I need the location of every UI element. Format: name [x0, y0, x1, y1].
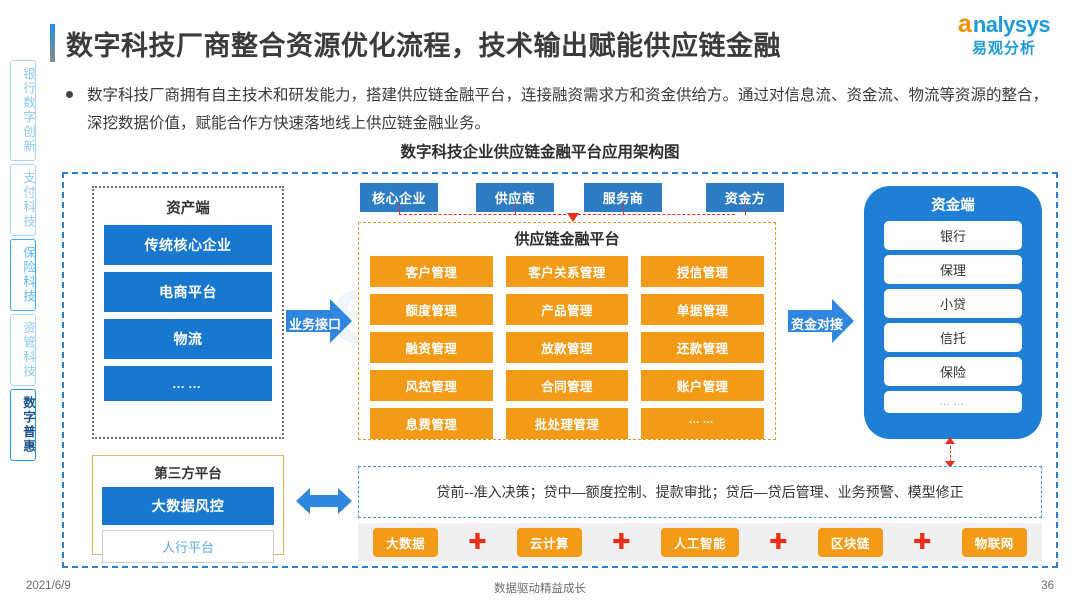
- platform-box: 供应链金融平台 客户管理 客户关系管理 授信管理 额度管理 产品管理 单据管理 …: [358, 222, 776, 440]
- module-risk-control-mgmt[interactable]: 风控管理: [370, 370, 493, 401]
- sidebar-item-inclusive-finance[interactable]: 数字普惠: [10, 389, 36, 461]
- connector-line-supplier: [515, 203, 516, 215]
- slide-root: 数字科技厂商整合资源优化流程，技术输出赋能供应链金融 a nalysys 易观分…: [0, 0, 1080, 608]
- sidebar-rail: 银行数字创新 支付科技 保险科技 资管科技 数字普惠: [6, 60, 40, 461]
- title-accent-bar: [50, 24, 55, 62]
- module-more[interactable]: ……: [641, 408, 764, 439]
- platform-module-grid: 客户管理 客户关系管理 授信管理 额度管理 产品管理 单据管理 融资管理 放款管…: [359, 249, 775, 439]
- module-crm[interactable]: 客户关系管理: [506, 256, 629, 287]
- business-interface-label: 业务接口: [289, 314, 341, 333]
- logo-mark-icon: a: [958, 12, 972, 37]
- third-party-heading: 第三方平台: [102, 462, 274, 482]
- funding-item-trust[interactable]: 信托: [884, 323, 1022, 352]
- footer-tagline: 数据驱动精益成长: [0, 580, 1080, 596]
- third-party-box: 第三方平台 大数据风控 人行平台: [92, 455, 284, 555]
- module-credit-mgmt[interactable]: 授信管理: [641, 256, 764, 287]
- module-customer-mgmt[interactable]: 客户管理: [370, 256, 493, 287]
- module-quota-mgmt[interactable]: 额度管理: [370, 294, 493, 325]
- third-party-pboc-platform[interactable]: 人行平台: [102, 530, 274, 563]
- asset-item-ecommerce[interactable]: 电商平台: [104, 272, 272, 312]
- funding-item-bank[interactable]: 银行: [884, 221, 1022, 250]
- module-loan-disbursement-mgmt[interactable]: 放款管理: [506, 332, 629, 363]
- platform-heading: 供应链金融平台: [359, 228, 775, 249]
- bullet-dot-icon: [66, 91, 73, 98]
- footer-page-number: 36: [1041, 580, 1054, 592]
- connector-line-core: [399, 203, 400, 215]
- connector-arrowhead-icon: [567, 213, 579, 222]
- funding-item-microloan[interactable]: 小贷: [884, 289, 1022, 318]
- module-product-mgmt[interactable]: 产品管理: [506, 294, 629, 325]
- page-title: 数字科技厂商整合资源优化流程，技术输出赋能供应链金融: [50, 20, 910, 66]
- logo-wordmark: a nalysys: [944, 12, 1064, 37]
- summary-text: 数字科技厂商拥有自主技术和研发能力，搭建供应链金融平台，连接融资需求方和资金供给…: [87, 82, 1056, 138]
- module-contract-mgmt[interactable]: 合同管理: [506, 370, 629, 401]
- bidirectional-arrow-icon: [296, 484, 352, 518]
- connector-line-funder: [745, 203, 746, 215]
- logo-chinese-text: 易观分析: [944, 41, 1064, 56]
- tech-chip-iot[interactable]: 物联网: [962, 528, 1027, 557]
- sidebar-item-asset-mgmt[interactable]: 资管科技: [10, 314, 36, 386]
- module-financing-mgmt[interactable]: 融资管理: [370, 332, 493, 363]
- logo-word-text: nalysys: [973, 14, 1050, 36]
- asset-side-heading: 资产端: [104, 197, 272, 218]
- sidebar-item-insurance[interactable]: 保险科技: [10, 239, 36, 311]
- tech-chip-ai[interactable]: 人工智能: [661, 528, 739, 557]
- funding-link-up-arrow-icon: [945, 437, 955, 444]
- tech-stack-strip: 大数据 ✚ 云计算 ✚ 人工智能 ✚ 区块链 ✚ 物联网: [358, 523, 1042, 561]
- asset-item-core-enterprise[interactable]: 传统核心企业: [104, 225, 272, 265]
- analysys-logo: a nalysys 易观分析: [944, 12, 1064, 56]
- module-repayment-mgmt[interactable]: 还款管理: [641, 332, 764, 363]
- asset-side-box: 资产端 传统核心企业 电商平台 物流 ……: [92, 186, 284, 439]
- funding-item-factoring[interactable]: 保理: [884, 255, 1022, 284]
- title-text: 数字科技厂商整合资源优化流程，技术输出赋能供应链金融: [66, 24, 781, 63]
- summary-bullet: 数字科技厂商拥有自主技术和研发能力，搭建供应链金融平台，连接融资需求方和资金供给…: [66, 82, 1056, 138]
- tech-chip-bigdata[interactable]: 大数据: [373, 528, 438, 557]
- diagram-title: 数字科技企业供应链金融平台应用架构图: [0, 140, 1080, 162]
- funding-side-box: 资金端 银行 保理 小贷 信托 保险 ……: [864, 186, 1042, 439]
- connector-line-service: [623, 203, 624, 215]
- loan-lifecycle-box: 贷前--准入决策；贷中—额度控制、提款审批；贷后—贷后管理、业务预警、模型修正: [358, 466, 1042, 518]
- module-document-mgmt[interactable]: 单据管理: [641, 294, 764, 325]
- module-interest-fee-mgmt[interactable]: 息费管理: [370, 408, 493, 439]
- tech-chip-blockchain[interactable]: 区块链: [818, 528, 883, 557]
- module-batch-process-mgmt[interactable]: 批处理管理: [506, 408, 629, 439]
- funding-item-insurance[interactable]: 保险: [884, 357, 1022, 386]
- funding-side-heading: 资金端: [884, 194, 1022, 215]
- funding-arrow-label: 资金对接: [791, 314, 843, 333]
- asset-item-logistics[interactable]: 物流: [104, 319, 272, 359]
- funding-item-more[interactable]: ……: [884, 391, 1022, 413]
- module-account-mgmt[interactable]: 账户管理: [641, 370, 764, 401]
- sidebar-item-payment[interactable]: 支付科技: [10, 164, 36, 236]
- third-party-bigdata-risk[interactable]: 大数据风控: [102, 487, 274, 525]
- tech-chip-cloud[interactable]: 云计算: [517, 528, 582, 557]
- footer: 2021/6/9 数据驱动精益成长 36: [0, 580, 1080, 602]
- asset-item-more[interactable]: ……: [104, 366, 272, 401]
